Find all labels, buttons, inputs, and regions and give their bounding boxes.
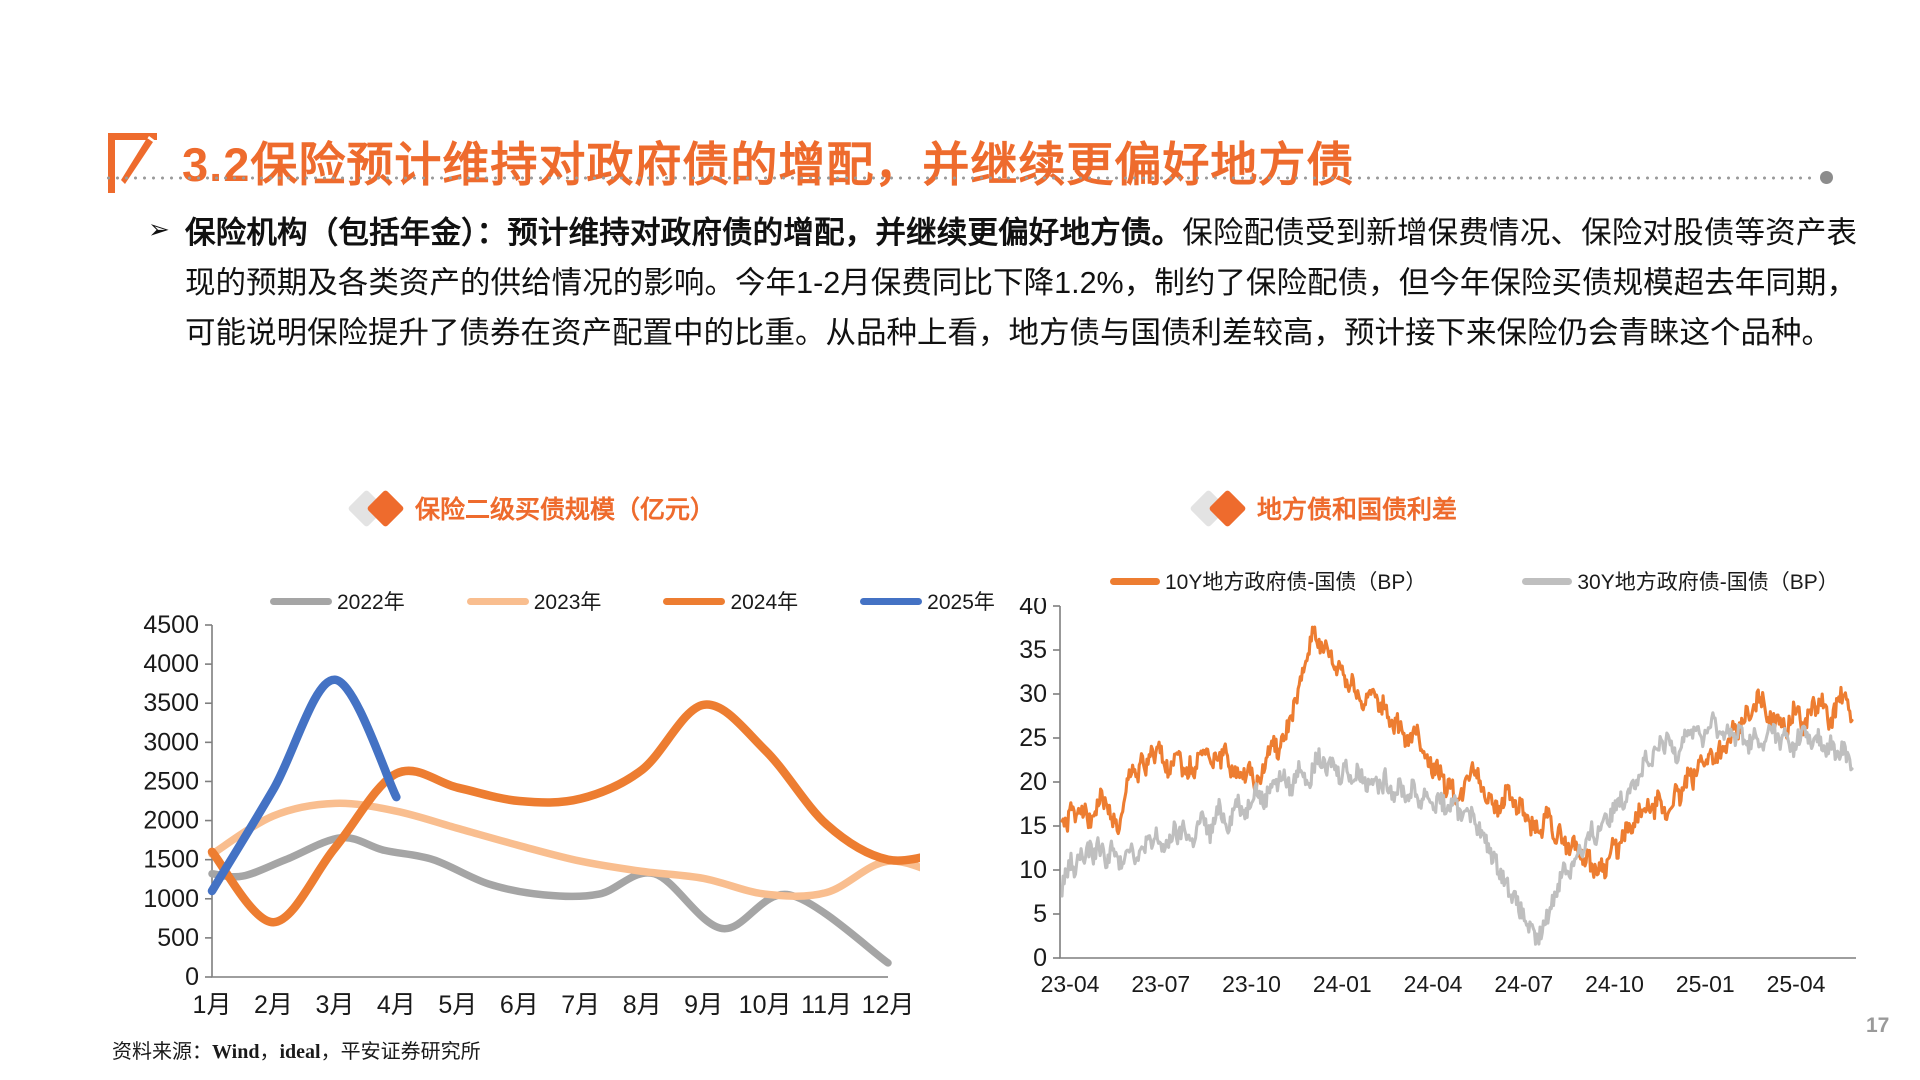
legend-item-30y[interactable]: 30Y地方政府债-国债（BP） bbox=[1522, 566, 1838, 596]
legend-swatch-2023 bbox=[467, 598, 529, 605]
y-tick-label: 2000 bbox=[143, 807, 199, 835]
right-chart-plot: 051015202530354023-0423-0723-1024-0124-0… bbox=[1000, 598, 1880, 1018]
right-chart-legend: 10Y地方政府债-国债（BP） 30Y地方政府债-国债（BP） bbox=[1110, 566, 1839, 596]
y-tick-label: 5 bbox=[1033, 900, 1047, 928]
series-line-2025 bbox=[212, 680, 396, 891]
source-sep-2: ， bbox=[321, 1041, 341, 1063]
y-tick-label: 25 bbox=[1019, 724, 1047, 752]
x-tick-label: 12月 bbox=[862, 991, 915, 1019]
left-chart-title: 保险二级买债规模（亿元） bbox=[353, 490, 715, 526]
y-tick-label: 40 bbox=[1019, 598, 1047, 620]
legend-label-30y: 30Y地方政府债-国债（BP） bbox=[1577, 566, 1838, 596]
x-tick-label: 24-01 bbox=[1313, 971, 1372, 997]
y-tick-label: 3000 bbox=[143, 728, 199, 756]
left-chart-legend: 2022年 2023年 2024年 2025年 bbox=[270, 586, 995, 616]
legend-item-2024[interactable]: 2024年 bbox=[663, 586, 798, 616]
slide-header: 3.2保险预计维持对政府债的增配，并继续更偏好地方债 bbox=[0, 58, 1920, 148]
paragraph-lead-bold: 保险机构（包括年金）：预计维持对政府债的增配，并继续更偏好地方债。 bbox=[185, 216, 1182, 250]
source-institute: 平安证券研究所 bbox=[341, 1041, 481, 1063]
legend-label-2022: 2022年 bbox=[337, 586, 405, 616]
x-tick-label: 23-04 bbox=[1041, 971, 1100, 997]
x-tick-label: 11月 bbox=[801, 991, 852, 1019]
left-chart-title-text: 保险二级买债规模（亿元） bbox=[415, 490, 715, 526]
x-tick-label: 2月 bbox=[254, 991, 293, 1019]
body-bullet-block: ➢ 保险机构（包括年金）：预计维持对政府债的增配，并继续更偏好地方债。保险配债受… bbox=[148, 208, 1848, 358]
y-tick-label: 15 bbox=[1019, 812, 1047, 840]
header-divider-end-dot bbox=[1820, 171, 1833, 184]
x-tick-label: 25-01 bbox=[1676, 971, 1735, 997]
y-tick-label: 10 bbox=[1019, 856, 1047, 884]
y-tick-label: 1000 bbox=[143, 885, 199, 913]
x-tick-label: 10月 bbox=[739, 991, 792, 1019]
y-tick-label: 20 bbox=[1019, 768, 1047, 796]
legend-swatch-10y bbox=[1110, 578, 1160, 585]
y-tick-label: 0 bbox=[185, 963, 199, 991]
legend-item-2025[interactable]: 2025年 bbox=[860, 586, 995, 616]
x-tick-label: 1月 bbox=[193, 991, 232, 1019]
y-tick-label: 1500 bbox=[143, 846, 199, 874]
legend-swatch-2025 bbox=[860, 598, 922, 605]
source-wind: Wind bbox=[212, 1041, 259, 1063]
y-tick-label: 35 bbox=[1019, 636, 1047, 664]
x-tick-label: 4月 bbox=[377, 991, 416, 1019]
x-tick-label: 24-04 bbox=[1404, 971, 1463, 997]
x-tick-label: 23-10 bbox=[1222, 971, 1281, 997]
x-tick-label: 24-10 bbox=[1585, 971, 1644, 997]
page-number: 17 bbox=[1866, 1014, 1889, 1038]
x-tick-label: 8月 bbox=[623, 991, 662, 1019]
y-tick-label: 0 bbox=[1033, 944, 1047, 972]
legend-item-2023[interactable]: 2023年 bbox=[467, 586, 602, 616]
page-title: 3.2保险预计维持对政府债的增配，并继续更偏好地方债 bbox=[182, 126, 1354, 195]
body-paragraph: 保险机构（包括年金）：预计维持对政府债的增配，并继续更偏好地方债。保险配债受到新… bbox=[185, 208, 1857, 358]
legend-label-2023: 2023年 bbox=[534, 586, 602, 616]
source-prefix: 资料来源： bbox=[112, 1041, 212, 1063]
series-line-2024 bbox=[212, 705, 920, 923]
legend-label-10y: 10Y地方政府债-国债（BP） bbox=[1165, 566, 1426, 596]
y-tick-label: 500 bbox=[157, 924, 199, 952]
x-tick-label: 24-07 bbox=[1494, 971, 1553, 997]
y-tick-label: 4500 bbox=[143, 615, 199, 639]
legend-swatch-2024 bbox=[663, 598, 725, 605]
source-note: 资料来源：Wind，ideal，平安证券研究所 bbox=[112, 1035, 481, 1064]
series-line-30y bbox=[1062, 713, 1852, 944]
y-tick-label: 30 bbox=[1019, 680, 1047, 708]
right-chart-title-text: 地方债和国债利差 bbox=[1257, 490, 1457, 526]
left-chart-plot: 0500100015002000250030003500400045001月2月… bbox=[120, 615, 920, 1035]
legend-swatch-2022 bbox=[270, 598, 332, 605]
legend-label-2024: 2024年 bbox=[730, 586, 798, 616]
y-tick-label: 4000 bbox=[143, 650, 199, 678]
x-tick-label: 5月 bbox=[438, 991, 477, 1019]
y-tick-label: 2500 bbox=[143, 767, 199, 795]
right-chart-title: 地方债和国债利差 bbox=[1195, 490, 1457, 526]
legend-item-2022[interactable]: 2022年 bbox=[270, 586, 405, 616]
x-tick-label: 23-07 bbox=[1131, 971, 1190, 997]
legend-item-10y[interactable]: 10Y地方政府债-国债（BP） bbox=[1110, 566, 1426, 596]
x-tick-label: 6月 bbox=[500, 991, 539, 1019]
pencil-square-icon bbox=[105, 130, 161, 196]
header-divider bbox=[104, 176, 1816, 180]
legend-label-2025: 2025年 bbox=[927, 586, 995, 616]
x-tick-label: 3月 bbox=[315, 991, 354, 1019]
y-tick-label: 3500 bbox=[143, 689, 199, 717]
bullet-arrow-icon: ➢ bbox=[148, 216, 170, 242]
x-tick-label: 9月 bbox=[684, 991, 723, 1019]
source-sep-1: ， bbox=[259, 1041, 279, 1063]
x-tick-label: 7月 bbox=[561, 991, 600, 1019]
slide-root: 3.2保险预计维持对政府债的增配，并继续更偏好地方债 ➢ 保险机构（包括年金）：… bbox=[0, 0, 1920, 1080]
x-tick-label: 25-04 bbox=[1767, 971, 1826, 997]
source-ideal: ideal bbox=[279, 1041, 320, 1063]
legend-swatch-30y bbox=[1522, 578, 1572, 585]
